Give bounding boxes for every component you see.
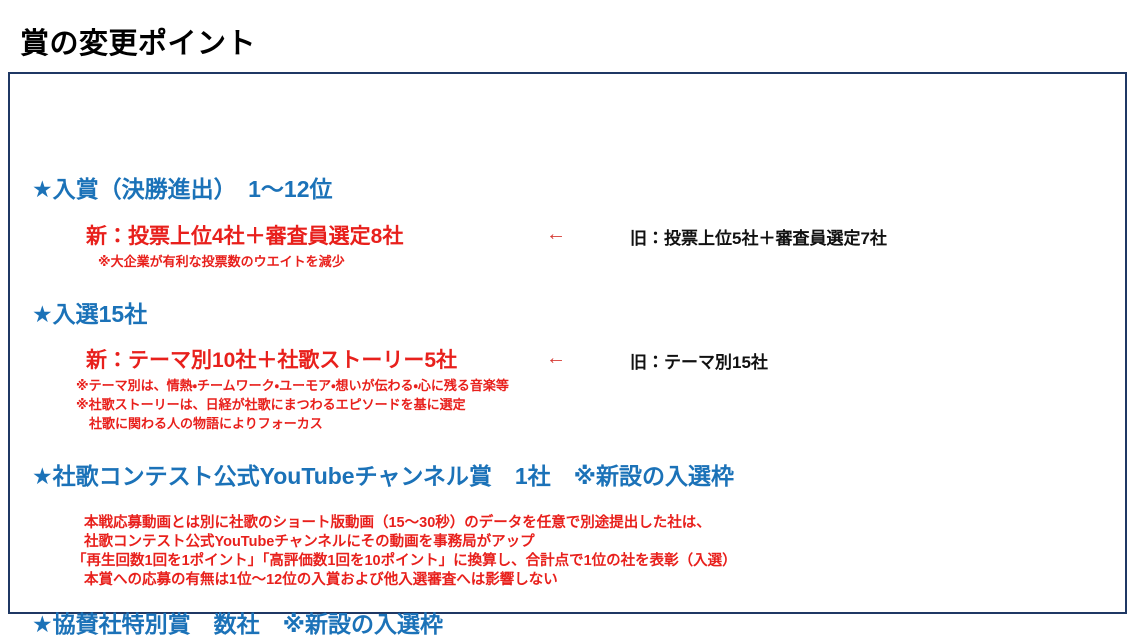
- section-3-body-line-1: 本戦応募動画とは別に社歌のショート版動画（15〜30秒）のデータを任意で別途提出…: [84, 511, 711, 532]
- section-2-note-1: ※テーマ別は、情熱・チームワーク・ユーモア・想いが伝わる・心に残る音楽等: [76, 375, 509, 394]
- section-heading-sponsor-award: ★協賛社特別賞 数社 ※新設の入選枠: [32, 605, 443, 639]
- section-1-new-label: 新：投票上位4社＋審査員選定8社: [86, 220, 403, 250]
- page-title: 賞の変更ポイント: [20, 20, 256, 62]
- section-heading-nyusen: ★入選15社: [32, 295, 147, 329]
- section-2-note-2: ※社歌ストーリーは、日経が社歌にまつわるエピソードを基に選定: [76, 394, 466, 413]
- section-heading-nyusho: ★入賞（決勝進出） 1〜12位: [32, 170, 333, 204]
- section-3-body-line-3: 「再生回数1回を1ポイント」「高評価数1回を10ポイント」に換算し、合計点で1位…: [72, 549, 737, 570]
- section-3-body-line-2: 社歌コンテスト公式YouTubeチャンネルにその動画を事務局がアップ: [84, 530, 535, 551]
- left-arrow-icon-1: ←: [546, 224, 566, 244]
- section-2-note-3: 社歌に関わる人の物語によりフォーカス: [76, 413, 323, 432]
- section-1-old-label: 旧：投票上位5社＋審査員選定7社: [630, 224, 887, 249]
- section-heading-youtube-award: ★社歌コンテスト公式YouTubeチャンネル賞 1社 ※新設の入選枠: [32, 457, 734, 491]
- section-1-note-1: ※大企業が有利な投票数のウエイトを減少: [98, 251, 345, 270]
- left-arrow-icon-2: ←: [546, 348, 566, 368]
- content-frame: ★入賞（決勝進出） 1〜12位 新：投票上位4社＋審査員選定8社 ← 旧：投票上…: [8, 72, 1127, 614]
- section-2-new-label: 新：テーマ別10社＋社歌ストーリー5社: [86, 344, 457, 374]
- section-3-body-line-4: 本賞への応募の有無は1位〜12位の入賞および他入選審査へは影響しない: [84, 568, 558, 589]
- section-2-old-label: 旧：テーマ別15社: [630, 348, 768, 373]
